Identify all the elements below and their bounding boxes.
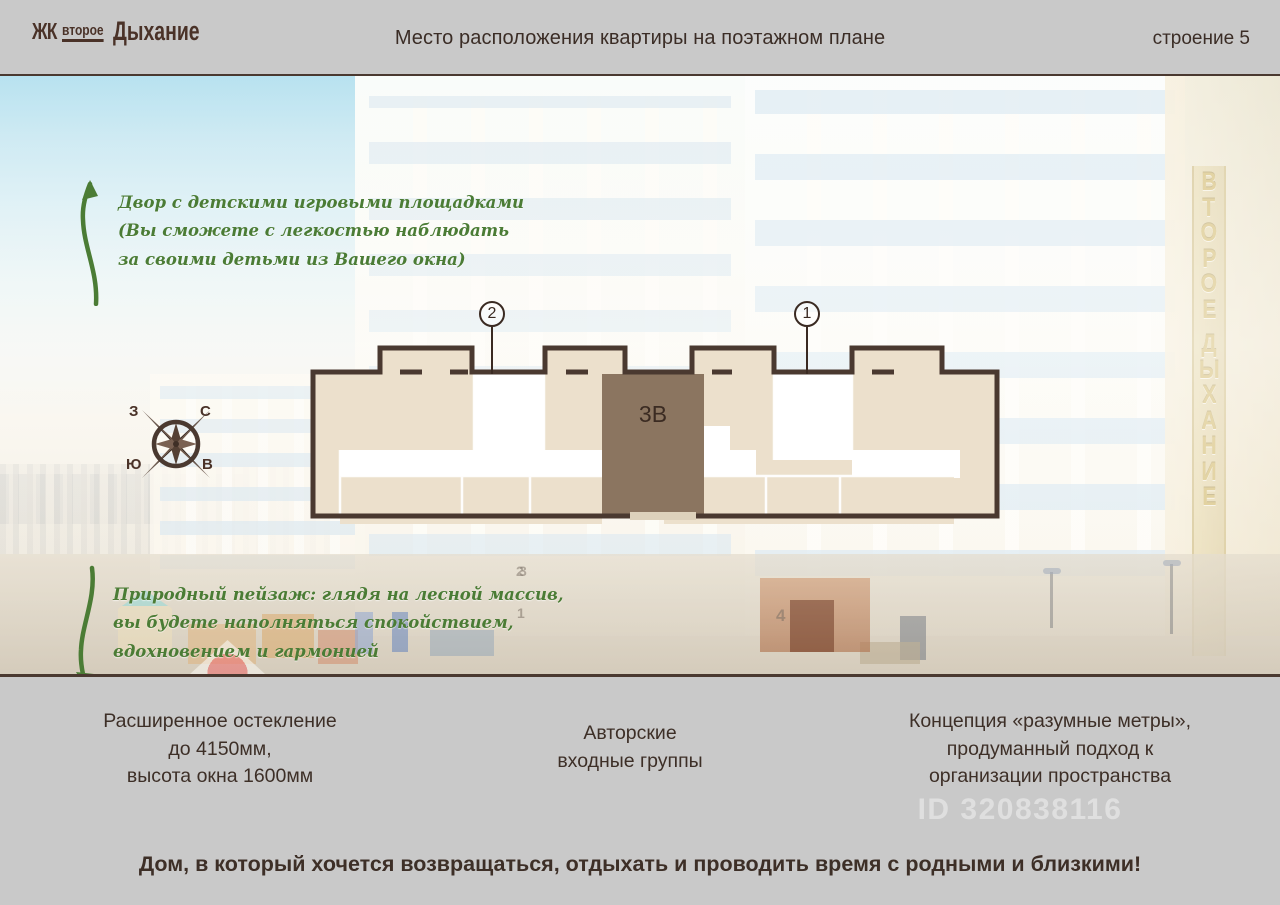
highlighted-unit-label: 3В: [639, 401, 667, 427]
entrance-door: [790, 600, 834, 652]
plan-geometry: [313, 348, 997, 524]
marker-badge[interactable]: 1: [794, 301, 820, 327]
building-label: строение 5: [1153, 28, 1250, 50]
poster-root: ЖК второе Дыхание Место расположения ква…: [0, 0, 1280, 905]
facade-entrance-number-d: 4: [776, 606, 785, 626]
sign-letter: О: [1201, 272, 1218, 297]
feature-line: продуманный подход к: [820, 736, 1280, 764]
features-bar: Расширенное остекление до 4150мм, высота…: [0, 680, 1280, 840]
note-landscape-line: Природный пейзаж: глядя на лесной массив…: [113, 581, 564, 609]
feature-smart-meters: Концепция «разумные метры», продуманный …: [820, 680, 1280, 791]
feature-line: организации пространства: [820, 763, 1280, 791]
sign-letter: Н: [1201, 434, 1216, 459]
sign-letter: В: [1201, 170, 1216, 195]
sign-letter: О: [1201, 221, 1218, 246]
note-landscape-line: вы будете наполняться спокойствием,: [113, 609, 564, 637]
page-title: Место расположения квартиры на поэтажном…: [0, 27, 1280, 50]
feature-line: входные группы: [440, 748, 820, 776]
feature-line: Расширенное остекление: [0, 708, 440, 736]
marker-leader-line: [491, 327, 493, 374]
sign-letter: Е: [1202, 485, 1216, 510]
facade-entrance-number-b: 3: [519, 563, 527, 579]
note-courtyard-line: Двор с детскими игровыми площадками: [118, 189, 524, 217]
street-lamp: [1050, 572, 1053, 628]
compass-rose-icon: [124, 394, 228, 494]
header-bar: ЖК второе Дыхание Место расположения ква…: [0, 0, 1280, 76]
marker-leader-line: [806, 327, 808, 374]
sign-letter: Т: [1203, 196, 1216, 221]
feature-line: до 4150мм,: [0, 736, 440, 764]
curved-arrow-down-icon: [62, 564, 108, 677]
floor-plan-svg: 3В: [300, 316, 1010, 536]
sign-letter: Е: [1202, 298, 1216, 323]
sign-letter: Р: [1202, 247, 1216, 272]
feature-line: Концепция «разумные метры»,: [820, 708, 1280, 736]
marker-badge[interactable]: 2: [479, 301, 505, 327]
compass-rose: З С Ю В: [124, 394, 228, 494]
sign-letter: Д: [1201, 332, 1216, 357]
feature-entrance-groups: Авторские входные группы: [440, 680, 820, 775]
note-courtyard-line: за своими детьми из Вашего окна): [118, 246, 524, 274]
sign-letter: Х: [1202, 383, 1216, 408]
street-lamp: [1170, 564, 1173, 634]
feature-line: высота окна 1600мм: [0, 763, 440, 791]
sign-letter: И: [1201, 460, 1216, 485]
floor-plan[interactable]: 3В 2 1: [300, 316, 1010, 536]
feature-line: Авторские: [440, 720, 820, 748]
note-landscape-line: вдохновением и гармонией: [113, 638, 564, 666]
photo-stage: В Т О Р О Е · Д Ы Х А Н И Е 2 3: [0, 76, 1280, 677]
note-courtyard: Двор с детскими игровыми площадками (Вы …: [118, 189, 524, 274]
sign-letter: Ы: [1199, 358, 1220, 383]
note-courtyard-line: (Вы сможете с легкостью наблюдать: [118, 217, 524, 245]
feature-glazing: Расширенное остекление до 4150мм, высота…: [0, 680, 440, 791]
note-landscape: Природный пейзаж: глядя на лесной массив…: [113, 581, 564, 666]
curved-arrow-up-icon: [62, 176, 108, 306]
footer-tagline: Дом, в который хочется возвращаться, отд…: [0, 852, 1280, 877]
sign-letter: А: [1201, 409, 1216, 434]
